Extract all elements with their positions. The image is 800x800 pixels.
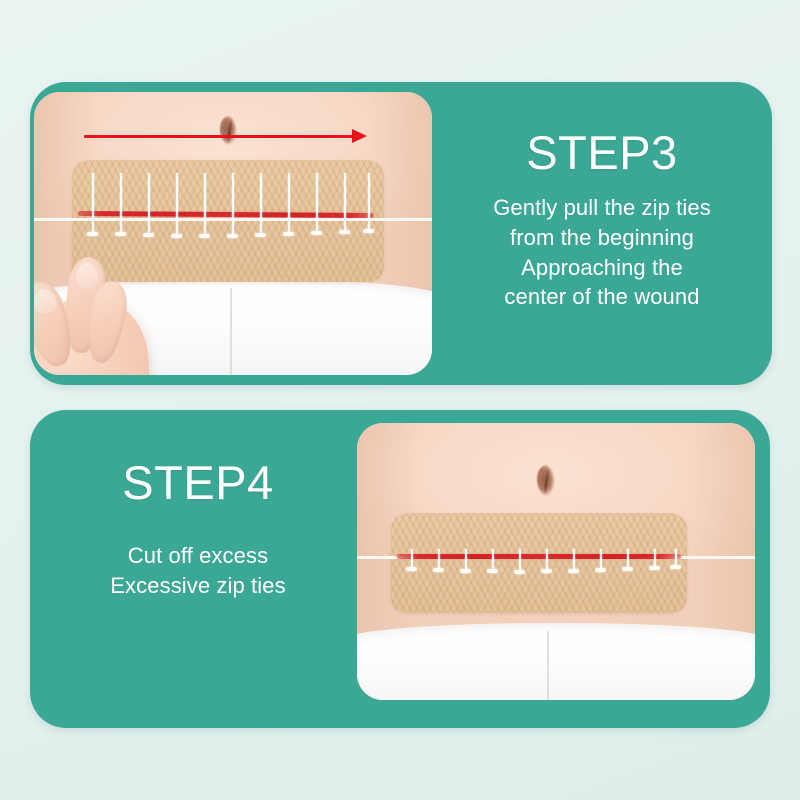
- zip-tie-anchor: [227, 234, 238, 238]
- step4-description: Cut off excess Excessive zip ties: [110, 541, 285, 600]
- zip-tie-anchor: [514, 570, 525, 574]
- zip-tie: [260, 173, 262, 236]
- zip-tie: [92, 173, 94, 235]
- zip-tie-anchor: [339, 230, 350, 234]
- zip-tie-anchor: [622, 567, 633, 571]
- zip-tie-anchor: [649, 566, 660, 570]
- zip-tie-anchor: [255, 233, 266, 237]
- zip-tie-anchor: [595, 568, 606, 572]
- zip-tie-anchor: [433, 568, 444, 572]
- zip-tie-anchor: [460, 569, 471, 573]
- garment-seam: [547, 631, 549, 700]
- step3-text-panel: STEP3 Gently pull the zip ties from the …: [434, 128, 770, 312]
- step3-title: STEP3: [526, 128, 677, 177]
- zip-tie: [120, 173, 122, 235]
- zip-tie: [148, 173, 150, 236]
- zip-tie: [204, 173, 206, 237]
- zip-tie: [344, 173, 346, 233]
- step3-description-line: Approaching the: [493, 253, 711, 283]
- zip-tie-anchor: [115, 232, 126, 236]
- zip-tie: [368, 173, 370, 232]
- zip-tie-anchor: [283, 232, 294, 236]
- zip-tie-anchor: [87, 232, 98, 236]
- zip-tie-anchor: [363, 229, 374, 233]
- zip-tie-anchor: [311, 231, 322, 235]
- zip-tie: [232, 173, 234, 237]
- step3-description-line: from the beginning: [493, 223, 711, 253]
- zip-tie: [288, 173, 290, 235]
- zip-tie-anchor: [670, 565, 681, 569]
- step4-text-panel: STEP4 Cut off excess Excessive zip ties: [38, 458, 358, 601]
- zip-tie-anchor: [541, 569, 552, 573]
- step3-description-line: center of the wound: [493, 282, 711, 312]
- wound-closure-bandage: [391, 513, 687, 613]
- step4-description-line: Cut off excess: [110, 541, 285, 571]
- zip-tie-anchor: [143, 233, 154, 237]
- zip-tie: [176, 173, 178, 237]
- hand: [34, 251, 170, 375]
- zip-tie-anchor: [487, 569, 498, 573]
- zip-tie-anchor: [171, 234, 182, 238]
- step3-description-line: Gently pull the zip ties: [493, 193, 711, 223]
- step-card-step4: STEP4 Cut off excess Excessive zip ties: [30, 410, 770, 728]
- step3-description: Gently pull the zip ties from the beginn…: [493, 193, 711, 312]
- step4-photo: [357, 423, 755, 700]
- zip-tie-anchor: [406, 567, 417, 571]
- direction-arrow-line: [84, 135, 356, 138]
- step-card-step3: STEP3 Gently pull the zip ties from the …: [30, 82, 772, 385]
- zip-tie: [316, 173, 318, 234]
- zip-tie-anchor: [199, 234, 210, 238]
- step4-description-line: Excessive zip ties: [110, 571, 285, 601]
- index-fingernail: [76, 263, 98, 289]
- step3-photo: [34, 92, 432, 375]
- zip-tie-anchor: [568, 569, 579, 573]
- step4-title: STEP4: [122, 458, 273, 507]
- white-garment: [357, 623, 755, 700]
- garment-seam: [230, 288, 232, 375]
- direction-arrow-head: [352, 129, 367, 143]
